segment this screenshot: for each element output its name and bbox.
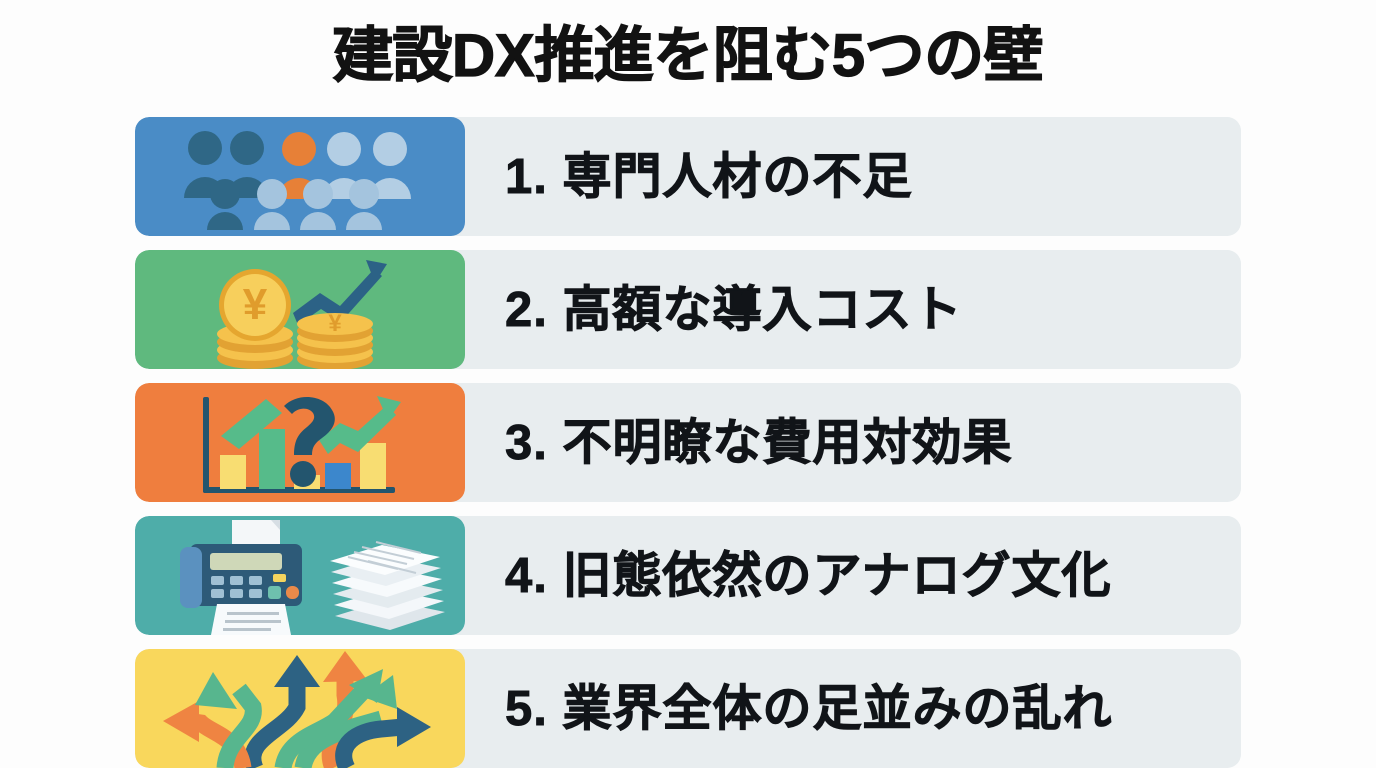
- list-item-label-panel: 4. 旧態依然のアナログ文化: [465, 516, 1241, 635]
- list-item-label: 4. 旧態依然のアナログ文化: [505, 547, 1112, 605]
- fax-machine-paper-stack-icon: [135, 516, 465, 635]
- people-group-icon: [135, 117, 465, 236]
- list-item[interactable]: 5. 業界全体の足並みの乱れ: [135, 649, 1241, 768]
- list-item-label-panel: 3. 不明瞭な費用対効果: [465, 383, 1241, 502]
- barriers-list: 1. 専門人材の不足 ¥: [135, 117, 1241, 768]
- list-item-label: 3. 不明瞭な費用対効果: [505, 414, 1012, 472]
- list-item-label: 2. 高額な導入コスト: [505, 281, 962, 339]
- svg-text:¥: ¥: [243, 280, 268, 329]
- svg-text:¥: ¥: [328, 310, 342, 337]
- list-item[interactable]: 1. 専門人材の不足: [135, 117, 1241, 236]
- page-title: 建設DX推進を阻む5つの壁: [0, 17, 1376, 95]
- bar-chart-question-mark-icon: [135, 383, 465, 502]
- scattered-arrows-icon: [135, 649, 465, 768]
- list-item-label-panel: 5. 業界全体の足並みの乱れ: [465, 649, 1241, 768]
- list-item-label-panel: 2. 高額な導入コスト: [465, 250, 1241, 369]
- list-item[interactable]: 4. 旧態依然のアナログ文化: [135, 516, 1241, 635]
- list-item-label: 5. 業界全体の足並みの乱れ: [505, 680, 1112, 738]
- yen-coins-rising-arrow-icon: ¥ ¥: [135, 250, 465, 369]
- list-item-label: 1. 専門人材の不足: [505, 148, 912, 206]
- list-item[interactable]: 3. 不明瞭な費用対効果: [135, 383, 1241, 502]
- slide-root: 建設DX推進を阻む5つの壁: [0, 0, 1376, 768]
- list-item[interactable]: ¥ ¥ 2. 高額な導入コスト: [135, 250, 1241, 369]
- list-item-label-panel: 1. 専門人材の不足: [465, 117, 1241, 236]
